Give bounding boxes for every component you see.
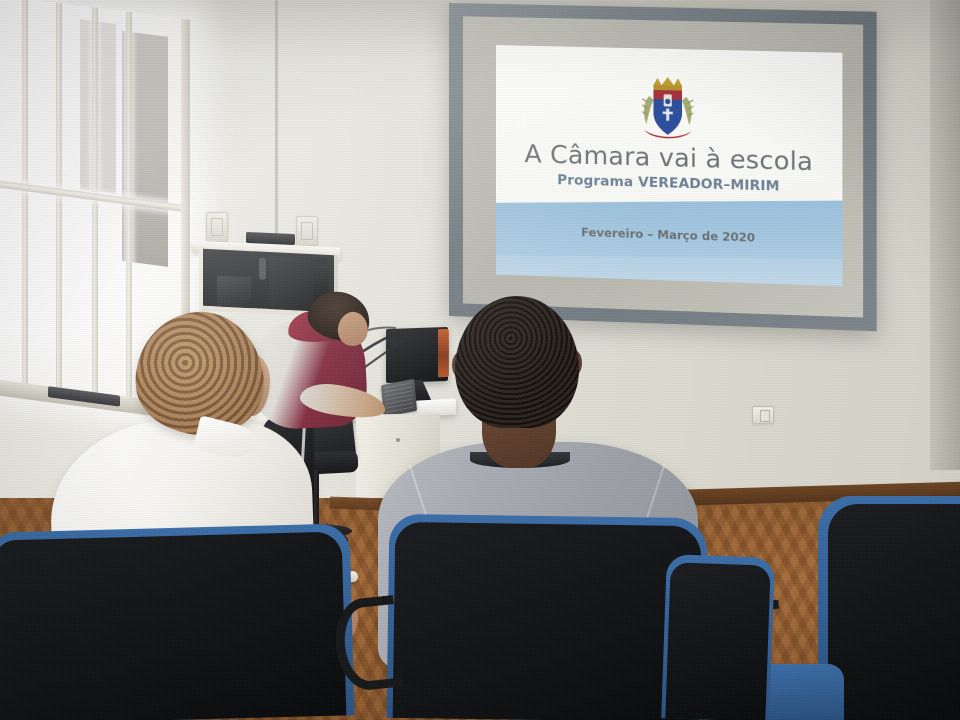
window-mullion-4 — [126, 11, 132, 404]
chair-mid-right-cushion — [665, 562, 770, 720]
desk-screw-top — [396, 438, 400, 442]
projection-screen: A Câmara vai à escola Programa VEREADOR–… — [449, 3, 877, 331]
window-mullion-2 — [56, 2, 62, 395]
window-mullion-3 — [92, 7, 98, 400]
screen-mat: A Câmara vai à escola Programa VEREADOR–… — [463, 16, 863, 317]
ceiling-conduit — [275, 0, 278, 236]
cable-hook — [259, 258, 266, 280]
chair-front-left-cushion — [0, 531, 346, 720]
classroom-photo: A Câmara vai à escola Programa VEREADOR–… — [0, 0, 960, 720]
slide-accent-band-2 — [496, 255, 842, 286]
chair-front-right-cushion — [828, 504, 960, 720]
wall-corner-right — [930, 0, 960, 470]
coat-of-arms-icon — [636, 71, 699, 145]
window-mullion-1 — [22, 0, 28, 390]
amplifier-unit — [217, 275, 251, 311]
projected-slide: A Câmara vai à escola Programa VEREADOR–… — [496, 45, 842, 286]
speaker-left — [206, 212, 228, 242]
light-switch[interactable] — [752, 406, 774, 424]
chair-front-center-cushion — [393, 522, 702, 720]
window-pane-dark-2 — [80, 19, 116, 194]
speaker-right — [296, 216, 318, 246]
